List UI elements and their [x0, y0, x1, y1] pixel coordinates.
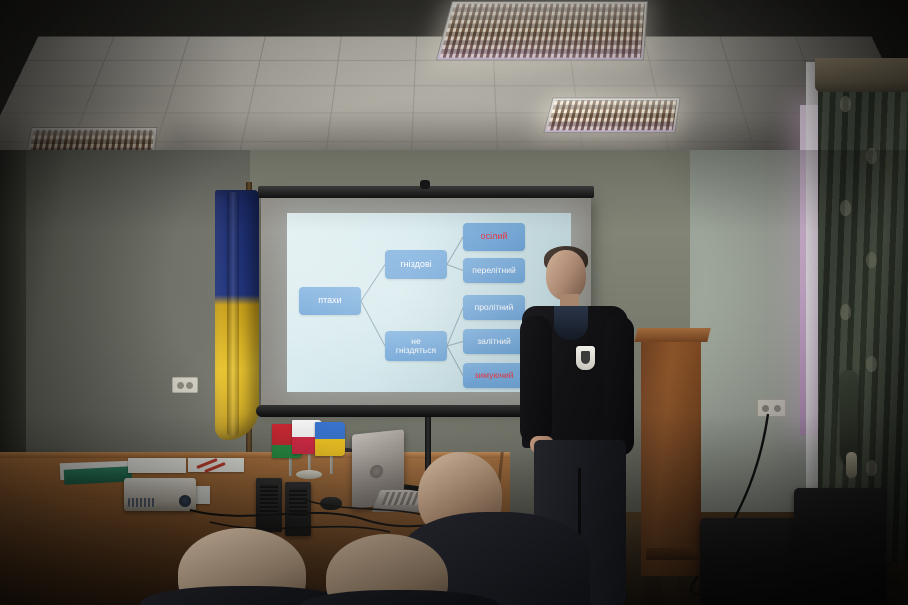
lectern — [641, 334, 701, 576]
curtain-pelmet — [815, 58, 908, 92]
curtain-ornament — [866, 460, 877, 476]
mindmap-edge — [447, 237, 463, 265]
table-edge — [0, 452, 510, 458]
ceiling-tile — [650, 61, 736, 87]
ceiling-tile — [494, 61, 575, 87]
window-curtain — [818, 62, 908, 562]
curtain-ornament — [866, 356, 877, 372]
ceiling-tile — [412, 113, 497, 142]
ceiling-tile — [796, 36, 883, 60]
mindmap-edge — [447, 265, 463, 271]
ceiling-tile — [720, 36, 805, 60]
mindmap-edge — [447, 342, 463, 347]
flag-fold-shadow — [227, 192, 239, 436]
presenter-collar — [554, 306, 588, 340]
mindmap-node-vagrant: залітний — [463, 329, 525, 354]
ceiling-tile — [249, 86, 335, 113]
ceiling-tile — [338, 36, 417, 60]
ceiling-tile — [166, 86, 254, 113]
ceiling-tile — [175, 61, 261, 87]
mindmap-node-passage: пролітний — [463, 295, 525, 320]
mindmap-node-wintering: зимуючий — [463, 363, 525, 388]
light-glow — [436, 1, 648, 60]
ceiling-tile — [255, 61, 338, 87]
mindmap-node-migratory: перелітний — [463, 258, 525, 283]
curtain-ornament — [840, 96, 851, 112]
ceiling-tile — [1, 86, 94, 113]
ceiling-tile — [260, 36, 341, 60]
mindmap-edge — [361, 265, 385, 302]
paper-sheet-2 — [128, 458, 186, 473]
curtain-ornament — [840, 304, 851, 320]
lectern-base — [646, 548, 698, 560]
light-glow — [543, 97, 680, 133]
projector-vent — [128, 498, 156, 507]
ceiling-tile — [182, 36, 265, 60]
ceiling-light-right — [543, 97, 680, 133]
mindmap-edge — [447, 346, 463, 376]
wall-socket-left — [172, 377, 198, 393]
ceiling-tile — [414, 86, 496, 113]
ceiling-light-center — [436, 1, 648, 60]
ceiling-tile — [105, 36, 190, 60]
presenter-arm-left — [520, 316, 552, 444]
mindmap-node-nesting: гніздові — [385, 250, 447, 279]
ceiling-tile — [327, 113, 413, 142]
lectern-top — [634, 328, 710, 342]
ceiling-tile — [14, 61, 104, 87]
presenter-head — [546, 250, 586, 300]
ceiling-tile — [27, 36, 114, 60]
mindmap-node-root: птахи — [299, 287, 361, 315]
curtain-tassel — [846, 452, 857, 478]
curtain-ornament — [866, 148, 877, 164]
ceiling-tile — [242, 113, 331, 142]
desk-flag-stand — [296, 470, 322, 479]
chair-right-front[interactable] — [700, 518, 796, 605]
ceiling-tile — [84, 86, 175, 113]
curtain-ornament — [840, 200, 851, 216]
ceiling-tile — [728, 61, 816, 87]
ceiling-tile — [331, 86, 415, 113]
mindmap-edge — [447, 308, 463, 347]
ceiling-tile — [335, 61, 416, 87]
ceiling-tile — [572, 61, 655, 87]
ceiling-tile — [157, 113, 248, 142]
mindmap-node-nonnesting: не гніздяться — [385, 331, 447, 361]
curtain-ornament — [866, 252, 877, 268]
photo-scene: птахи гніздові не гніздяться осілий пере… — [0, 0, 908, 605]
curtain-tieback — [840, 370, 858, 462]
desk-flag-ukraine — [315, 422, 345, 456]
mindmap-edge — [361, 301, 385, 346]
ceiling-tile — [415, 61, 495, 87]
presenter-emblem-patch — [576, 346, 595, 370]
ceiling-tile — [644, 36, 727, 60]
mindmap-node-sedentary: осілий — [463, 223, 525, 251]
ceiling-tile — [94, 61, 182, 87]
screen-pull-knob[interactable] — [420, 180, 430, 189]
presenter-arm-right — [604, 316, 634, 456]
chair-right-back[interactable] — [794, 488, 886, 605]
